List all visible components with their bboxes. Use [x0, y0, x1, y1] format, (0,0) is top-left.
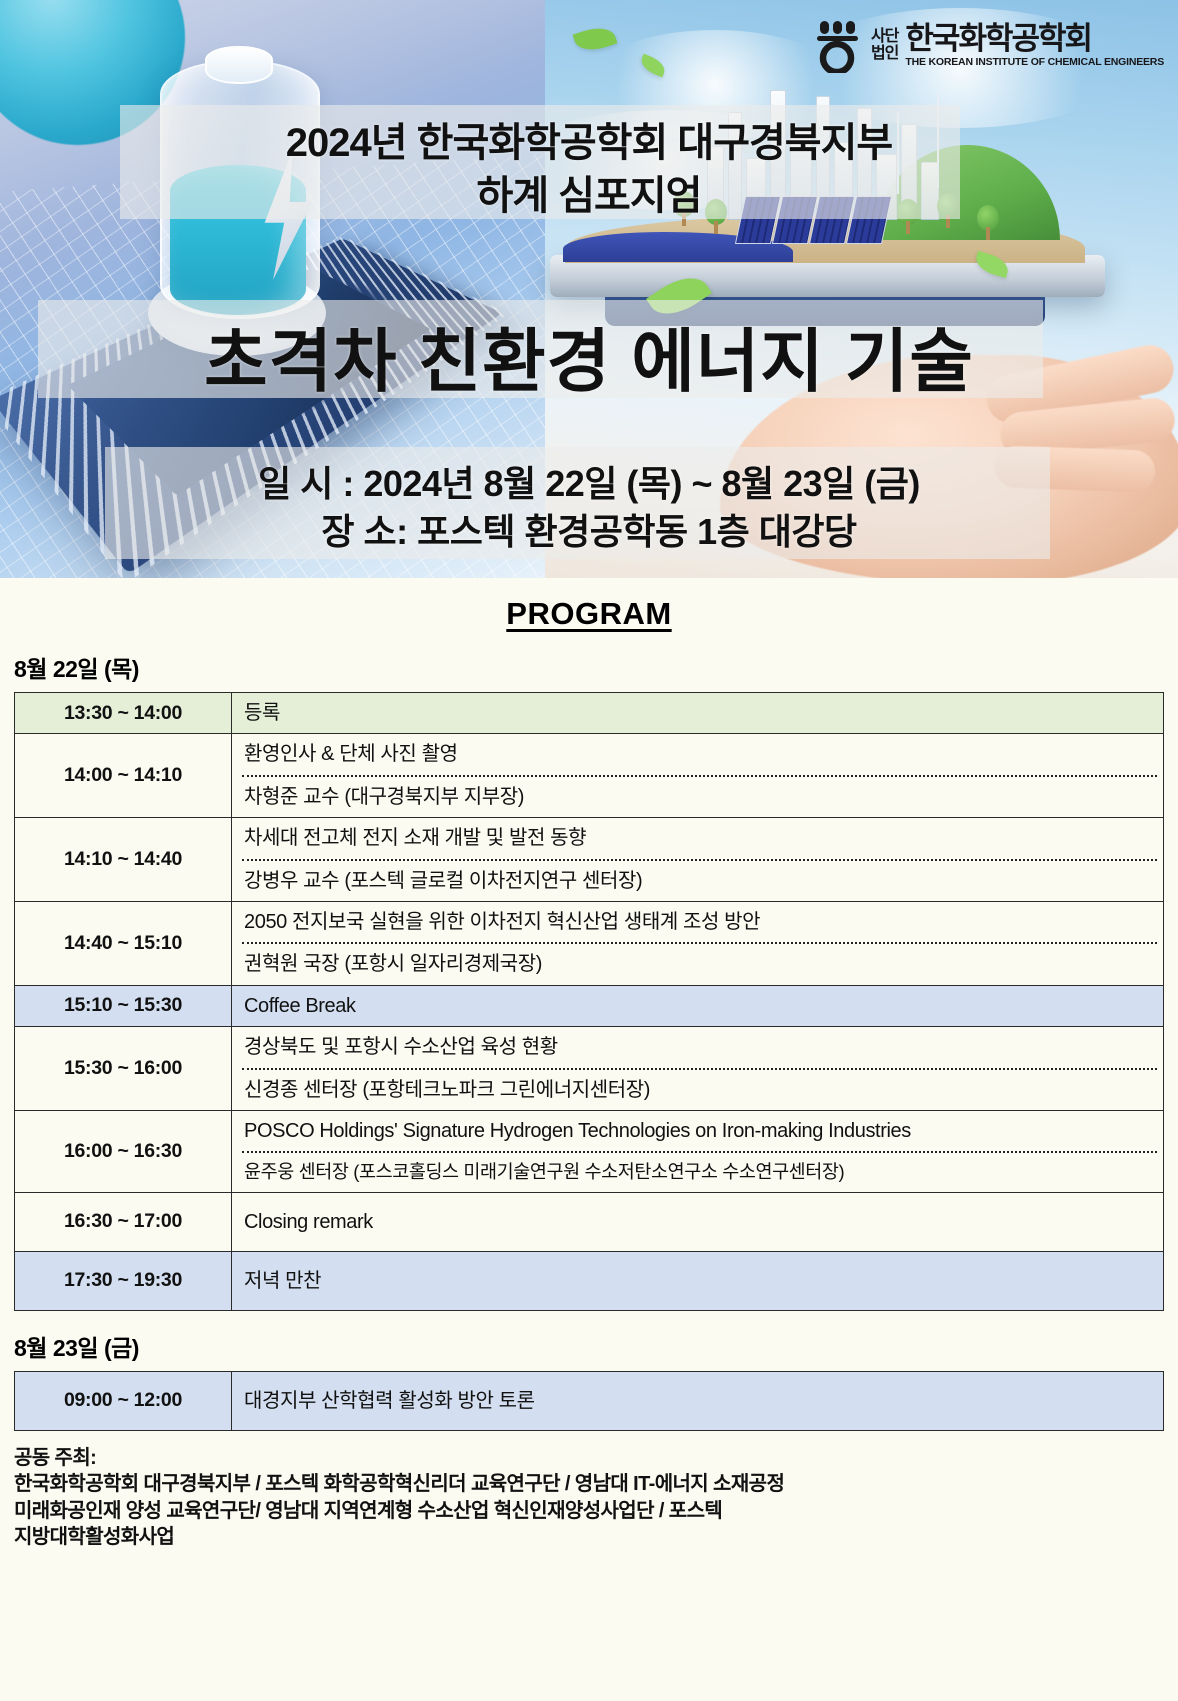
row-title: 차세대 전고체 전지 소재 개발 및 발전 동향: [232, 818, 1163, 858]
kiche-english-name: THE KOREAN INSTITUTE OF CHEMICAL ENGINEE…: [905, 56, 1164, 68]
program-heading: PROGRAM: [0, 578, 1178, 632]
table-row: 15:30 ~ 16:00 경상북도 및 포항시 수소산업 육성 현황 신경종 …: [15, 1027, 1164, 1111]
kiche-logo: 사단 법인 한국화학공학회 THE KOREAN INSTITUTE OF CH…: [816, 14, 1164, 76]
row-body: 대경지부 산학협력 활성화 방안 토론: [232, 1371, 1164, 1430]
row-body: 차세대 전고체 전지 소재 개발 및 발전 동향 강병우 교수 (포스텍 글로컬…: [232, 818, 1164, 902]
row-time: 14:40 ~ 15:10: [15, 901, 232, 985]
row-time: 16:30 ~ 17:00: [15, 1192, 232, 1251]
day-heading-2: 8월 23일 (금): [14, 1329, 1178, 1363]
row-time: 14:10 ~ 14:40: [15, 818, 232, 902]
poster-venue-info: 장 소: 포스텍 환경공학동 1층 대강당: [0, 503, 1178, 555]
row-body: 환영인사 & 단체 사진 촬영 차형준 교수 (대구경북지부 지부장): [232, 734, 1164, 818]
kiche-sadan-line1: 사단: [871, 28, 898, 45]
table-row: 17:30 ~ 19:30 저녁 만찬: [15, 1251, 1164, 1310]
row-time: 16:00 ~ 16:30: [15, 1110, 232, 1192]
row-title: Coffee Break: [232, 986, 1163, 1026]
row-body: 등록: [232, 693, 1164, 734]
row-title: 경상북도 및 포항시 수소산업 육성 현황: [232, 1027, 1163, 1067]
row-body: 저녁 만찬: [232, 1251, 1164, 1310]
table-row: 14:10 ~ 14:40 차세대 전고체 전지 소재 개발 및 발전 동향 강…: [15, 818, 1164, 902]
row-body: 경상북도 및 포항시 수소산업 육성 현황 신경종 센터장 (포항테크노파크 그…: [232, 1027, 1164, 1111]
footer-line-2: 미래화공인재 양성 교육연구단/ 영남대 지역연계형 수소산업 혁신인재양성사업…: [14, 1498, 1178, 1524]
kiche-korean-name: 한국화학공학회: [905, 23, 1164, 54]
kiche-sadan-beopin: 사단 법인: [871, 28, 898, 63]
row-body: 2050 전지보국 실현을 위한 이차전지 혁신산업 생태계 조성 방안 권혁원…: [232, 901, 1164, 985]
row-speaker: 윤주웅 센터장 (포스코홀딩스 미래기술연구원 수소저탄소연구소 수소연구센터장…: [232, 1153, 1163, 1192]
row-body: Coffee Break: [232, 985, 1164, 1026]
footer-label: 공동 주최:: [14, 1445, 1178, 1471]
row-time: 15:30 ~ 16:00: [15, 1027, 232, 1111]
battery-cap-graphic: [205, 46, 273, 84]
row-time: 14:00 ~ 14:10: [15, 734, 232, 818]
row-time: 15:10 ~ 15:30: [15, 985, 232, 1026]
table-row: 13:30 ~ 14:00 등록: [15, 693, 1164, 734]
footer-line-1: 한국화학공학회 대구경북지부 / 포스텍 화학공학혁신리더 교육연구단 / 영남…: [14, 1471, 1178, 1497]
row-title: Closing remark: [232, 1202, 1163, 1242]
table-row: 16:30 ~ 17:00 Closing remark: [15, 1192, 1164, 1251]
kiche-sadan-line2: 법인: [871, 45, 898, 62]
row-title: 2050 전지보국 실현을 위한 이차전지 혁신산업 생태계 조성 방안: [232, 902, 1163, 942]
program-section: PROGRAM 8월 22일 (목) 13:30 ~ 14:00 등록 14:0…: [0, 578, 1178, 1701]
row-speaker: 강병우 교수 (포스텍 글로컬 이차전지연구 센터장): [232, 861, 1163, 901]
row-speaker: 권혁원 국장 (포항시 일자리경제국장): [232, 944, 1163, 984]
row-title: 환영인사 & 단체 사진 촬영: [232, 734, 1163, 774]
poster-hero: 사단 법인 한국화학공학회 THE KOREAN INSTITUTE OF CH…: [0, 0, 1178, 578]
row-body: POSCO Holdings' Signature Hydrogen Techn…: [232, 1110, 1164, 1192]
row-body: Closing remark: [232, 1192, 1164, 1251]
row-title: 저녁 만찬: [232, 1261, 1163, 1301]
poster-date-info: 일 시 : 2024년 8월 22일 (목) ~ 8월 23일 (금): [0, 455, 1178, 507]
row-title: 대경지부 산학협력 활성화 방안 토론: [232, 1381, 1163, 1421]
kiche-name-block: 한국화학공학회 THE KOREAN INSTITUTE OF CHEMICAL…: [905, 23, 1164, 68]
row-time: 17:30 ~ 19:30: [15, 1251, 232, 1310]
schedule-table-day1: 13:30 ~ 14:00 등록 14:00 ~ 14:10 환영인사 & 단체…: [14, 692, 1164, 1311]
table-row: 14:00 ~ 14:10 환영인사 & 단체 사진 촬영 차형준 교수 (대구…: [15, 734, 1164, 818]
kiche-emblem-icon: [816, 17, 864, 73]
table-row: 14:40 ~ 15:10 2050 전지보국 실현을 위한 이차전지 혁신산업…: [15, 901, 1164, 985]
row-speaker: 신경종 센터장 (포항테크노파크 그린에너지센터장): [232, 1070, 1163, 1110]
row-time: 09:00 ~ 12:00: [15, 1371, 232, 1430]
row-title: POSCO Holdings' Signature Hydrogen Techn…: [232, 1111, 1163, 1151]
row-title: 등록: [232, 693, 1163, 733]
poster-title-line2: 하계 심포지엄: [0, 163, 1178, 221]
table-row: 15:10 ~ 15:30 Coffee Break: [15, 985, 1164, 1026]
row-speaker: 차형준 교수 (대구경북지부 지부장): [232, 777, 1163, 817]
row-time: 13:30 ~ 14:00: [15, 693, 232, 734]
poster-title-line1: 2024년 한국화학공학회 대구경북지부: [0, 110, 1178, 168]
poster-main-title: 초격차 친환경 에너지 기술: [0, 305, 1178, 405]
schedule-table-day2: 09:00 ~ 12:00 대경지부 산학협력 활성화 방안 토론: [14, 1371, 1164, 1431]
footer-organizers: 공동 주최: 한국화학공학회 대구경북지부 / 포스텍 화학공학혁신리더 교육연…: [14, 1445, 1178, 1551]
footer-line-3: 지방대학활성화사업: [14, 1524, 1178, 1550]
table-row: 16:00 ~ 16:30 POSCO Holdings' Signature …: [15, 1110, 1164, 1192]
day-heading-1: 8월 22일 (목): [14, 650, 1178, 684]
table-row: 09:00 ~ 12:00 대경지부 산학협력 활성화 방안 토론: [15, 1371, 1164, 1430]
